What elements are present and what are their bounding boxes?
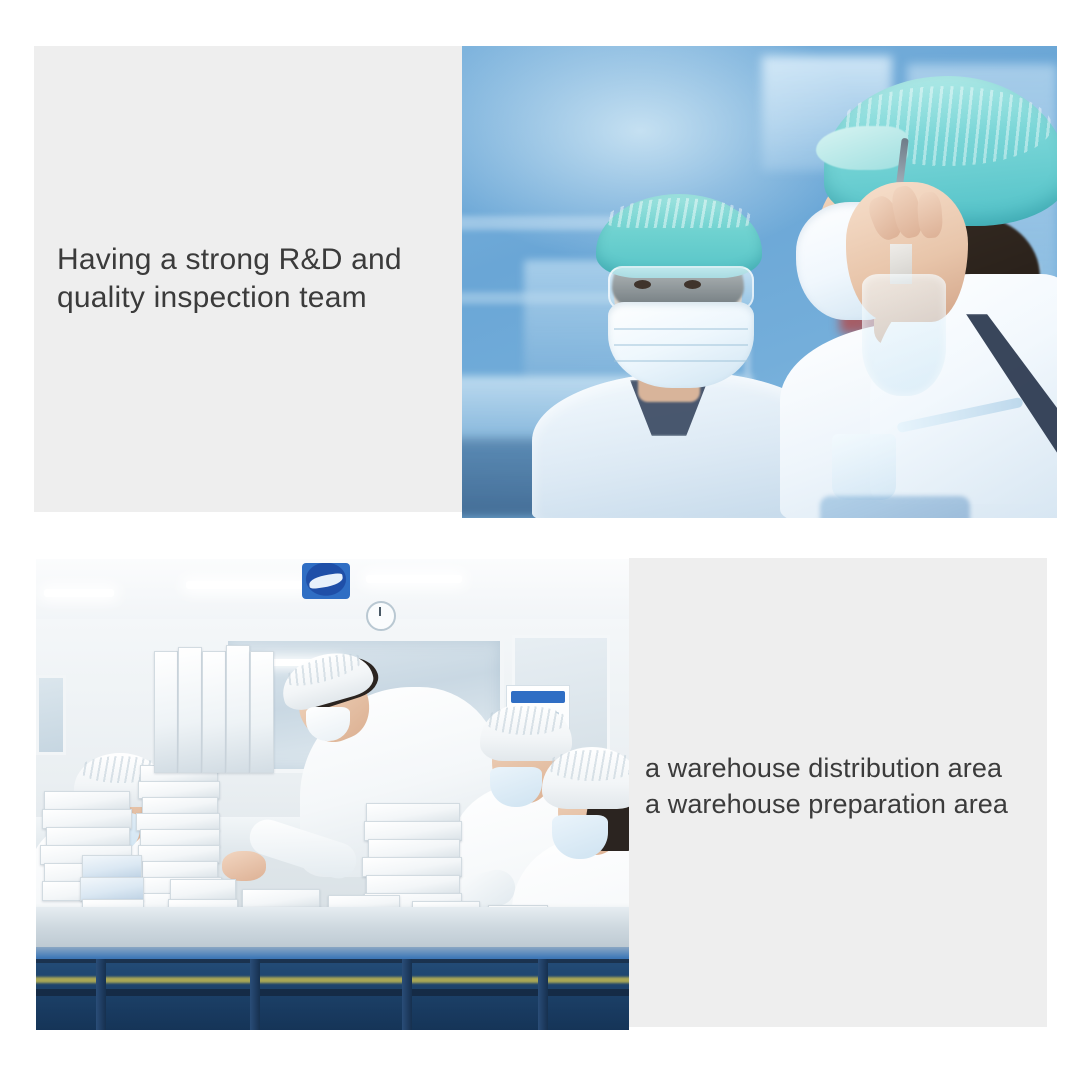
technician-front-eye-left xyxy=(634,280,651,289)
warehouse-caption-panel: a warehouse distribution area a warehous… xyxy=(629,558,1047,1027)
box xyxy=(46,827,130,847)
box xyxy=(368,839,460,859)
rnd-caption-text: Having a strong R&D and quality inspecti… xyxy=(57,241,449,317)
product-showcase-page: Having a strong R&D and quality inspecti… xyxy=(0,0,1080,1080)
ceiling-light-1 xyxy=(186,581,306,589)
section-warehouse-areas: a warehouse distribution area a warehous… xyxy=(36,558,1047,1030)
rnd-caption-line-2: quality inspection team xyxy=(57,279,449,317)
rnd-caption-line-1: Having a strong R&D and xyxy=(57,241,449,279)
warehouse-caption-line-2: a warehouse preparation area xyxy=(645,786,1045,822)
box xyxy=(366,875,460,895)
worker-bending-hand xyxy=(222,851,266,881)
table-leg-4 xyxy=(538,959,548,1030)
technician-raised-arm xyxy=(810,166,1057,496)
box xyxy=(178,647,202,773)
laboratory-quality-inspection-photo xyxy=(462,46,1057,518)
technician-front-eye-right xyxy=(684,280,701,289)
warehouse-packing-photo xyxy=(36,559,629,1030)
box xyxy=(80,877,144,901)
warehouse-caption-line-1: a warehouse distribution area xyxy=(645,750,1045,786)
technician-profile-hairnet-brim xyxy=(816,126,908,170)
section-rnd-quality: Having a strong R&D and quality inspecti… xyxy=(34,46,1057,518)
box xyxy=(242,889,320,909)
lab-scene xyxy=(462,46,1057,518)
table-leg-1 xyxy=(96,959,106,1030)
box xyxy=(82,855,142,879)
table-leg-2 xyxy=(250,959,260,1030)
glass-flask xyxy=(862,274,946,396)
box xyxy=(44,791,130,811)
lab-tray xyxy=(820,496,970,518)
box xyxy=(170,879,236,901)
worker-right-hairnet xyxy=(542,747,629,809)
blue-wall-sign-icon xyxy=(302,563,350,599)
box xyxy=(364,821,462,841)
small-beaker xyxy=(832,434,896,500)
rnd-caption-panel: Having a strong R&D and quality inspecti… xyxy=(34,46,462,512)
warehouse-scene xyxy=(36,559,629,1030)
box xyxy=(366,803,460,823)
box xyxy=(226,645,250,773)
finger-2 xyxy=(916,191,943,239)
mask-fold-1 xyxy=(614,328,748,330)
box xyxy=(154,651,178,773)
box xyxy=(250,651,274,773)
box xyxy=(362,857,462,877)
wall-clock-icon xyxy=(366,601,396,631)
ceiling-light-3 xyxy=(44,589,114,597)
mask-fold-2 xyxy=(614,344,748,346)
ceiling-light-2 xyxy=(366,575,462,583)
warehouse-caption-text: a warehouse distribution area a warehous… xyxy=(645,750,1045,822)
mask-fold-3 xyxy=(614,360,748,362)
table-leg-3 xyxy=(402,959,412,1030)
box xyxy=(42,809,132,829)
box xyxy=(202,651,226,773)
